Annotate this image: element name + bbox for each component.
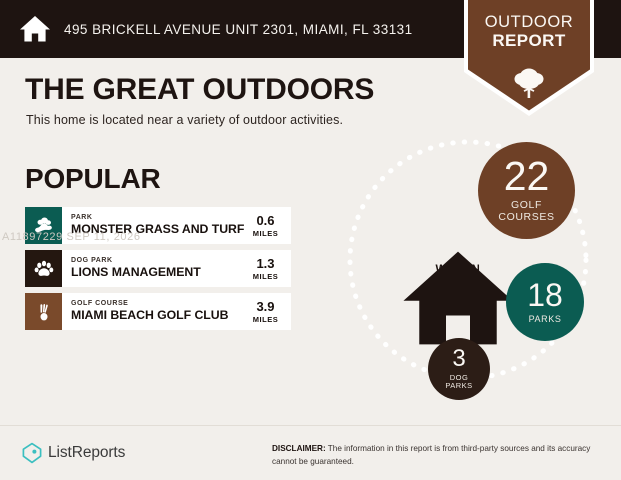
distance-unit: MILES bbox=[253, 272, 278, 281]
distance-value: 0.6 bbox=[256, 214, 274, 227]
list-item[interactable]: DOG PARK LIONS MANAGEMENT 1.3 MILES bbox=[25, 250, 291, 287]
distance-value: 1.3 bbox=[256, 257, 274, 270]
golf-courses-label-line-2: COURSES bbox=[498, 212, 554, 224]
list-item-text: GOLF COURSE MIAMI BEACH GOLF CLUB bbox=[62, 293, 245, 330]
list-item-text: DOG PARK LIONS MANAGEMENT bbox=[62, 250, 245, 287]
popular-list: PARK MONSTER GRASS AND TURF 0.6 MILES bbox=[25, 207, 291, 336]
page-subtitle: This home is located near a variety of o… bbox=[26, 113, 343, 127]
list-item-distance: 3.9 MILES bbox=[245, 293, 291, 330]
golf-courses-label: GOLF COURSES bbox=[498, 200, 554, 224]
outdoor-report-badge: OUTDOOR REPORT bbox=[464, 0, 594, 118]
disclaimer: DISCLAIMER: The information in this repo… bbox=[272, 443, 602, 468]
popular-heading: POPULAR bbox=[25, 163, 161, 195]
parks-count: 18 bbox=[527, 280, 563, 310]
dog-parks-label-line-2: PARKS bbox=[445, 382, 472, 390]
within-10-miles-diagram: WITHIN 10 MILES 22 GOLF COURSES 18 PARKS… bbox=[338, 138, 621, 423]
disclaimer-label: DISCLAIMER: bbox=[272, 444, 326, 453]
stat-bubble-parks: 18 PARKS bbox=[506, 263, 584, 341]
listreports-logo[interactable]: ListReports bbox=[22, 442, 125, 464]
list-item-text: PARK MONSTER GRASS AND TURF bbox=[62, 207, 245, 244]
list-item-distance: 1.3 MILES bbox=[245, 250, 291, 287]
outdoor-report-page: 495 BRICKELL AVENUE UNIT 2301, MIAMI, FL… bbox=[0, 0, 621, 480]
stat-bubble-dog-parks: 3 DOG PARKS bbox=[428, 338, 490, 400]
dog-parks-count: 3 bbox=[452, 348, 465, 371]
parks-label: PARKS bbox=[529, 314, 562, 324]
list-item-name: MIAMI BEACH GOLF CLUB bbox=[71, 309, 245, 323]
distance-unit: MILES bbox=[253, 315, 278, 324]
list-item-name: MONSTER GRASS AND TURF bbox=[71, 223, 245, 237]
listreports-brand-text: ListReports bbox=[48, 444, 125, 462]
page-title: THE GREAT OUTDOORS bbox=[25, 73, 374, 107]
golf-clubs-icon bbox=[33, 301, 55, 323]
park-tree-icon bbox=[33, 215, 55, 237]
park-tile bbox=[25, 207, 62, 244]
dog-parks-label: DOG PARKS bbox=[445, 374, 472, 391]
stat-bubble-golf-courses: 22 GOLF COURSES bbox=[478, 142, 575, 239]
list-item[interactable]: GOLF COURSE MIAMI BEACH GOLF CLUB 3.9 MI… bbox=[25, 293, 291, 330]
golf-courses-count: 22 bbox=[504, 157, 550, 196]
distance-unit: MILES bbox=[253, 229, 278, 238]
house-icon bbox=[447, 238, 469, 260]
distance-value: 3.9 bbox=[256, 300, 274, 313]
diagram-center-label: WITHIN 10 MILES bbox=[398, 238, 518, 294]
list-item-name: LIONS MANAGEMENT bbox=[71, 266, 245, 280]
paw-print-icon bbox=[33, 258, 55, 280]
dog-park-tile bbox=[25, 250, 62, 287]
golf-course-tile bbox=[25, 293, 62, 330]
list-item-distance: 0.6 MILES bbox=[245, 207, 291, 244]
property-address: 495 BRICKELL AVENUE UNIT 2301, MIAMI, FL… bbox=[64, 22, 413, 37]
listreports-logo-icon bbox=[22, 442, 42, 464]
list-item[interactable]: PARK MONSTER GRASS AND TURF 0.6 MILES bbox=[25, 207, 291, 244]
footer-divider bbox=[0, 425, 621, 426]
house-icon bbox=[18, 12, 52, 46]
